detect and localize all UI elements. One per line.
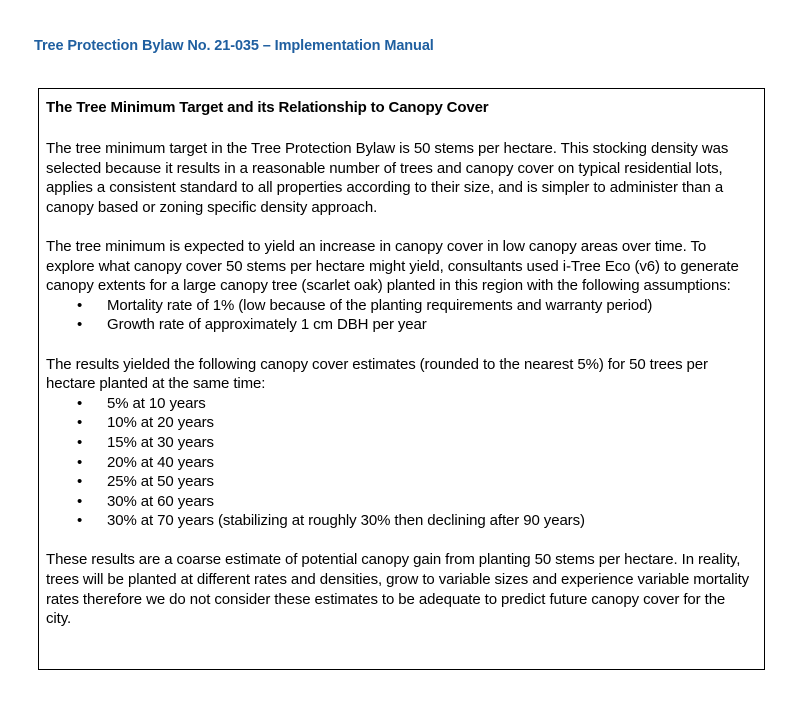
list-item: • 25% at 50 years — [46, 472, 754, 492]
list-item: • Mortality rate of 1% (low because of t… — [46, 296, 754, 316]
document-running-header: Tree Protection Bylaw No. 21-035 – Imple… — [34, 38, 434, 54]
paragraph-itree-eco-assumptions-intro: The tree minimum is expected to yield an… — [46, 237, 754, 296]
list-item: • 15% at 30 years — [46, 433, 754, 453]
bullet-icon: • — [77, 472, 82, 492]
bullet-icon: • — [77, 511, 82, 531]
canopy-estimates-list: • 5% at 10 years • 10% at 20 years • 15%… — [46, 394, 754, 531]
paragraph-coarse-estimate-caveat: These results are a coarse estimate of p… — [46, 550, 754, 628]
bullet-icon: • — [77, 492, 82, 512]
bullet-icon: • — [77, 453, 82, 473]
list-item: • 5% at 10 years — [46, 394, 754, 414]
document-page: Tree Protection Bylaw No. 21-035 – Imple… — [0, 0, 811, 712]
list-item-label: 15% at 30 years — [107, 434, 214, 451]
list-item-label: 5% at 10 years — [107, 395, 206, 412]
list-item: • 30% at 70 years (stabilizing at roughl… — [46, 511, 754, 531]
spacer — [46, 121, 754, 139]
list-item-label: 10% at 20 years — [107, 414, 214, 431]
list-item-label: Mortality rate of 1% (low because of the… — [107, 297, 652, 314]
bullet-icon: • — [77, 394, 82, 414]
paragraph-tree-minimum-target: The tree minimum target in the Tree Prot… — [46, 139, 754, 217]
paragraph-results-intro: The results yielded the following canopy… — [46, 355, 754, 394]
list-item: • 10% at 20 years — [46, 413, 754, 433]
list-item-label: Growth rate of approximately 1 cm DBH pe… — [107, 316, 427, 333]
list-item: • 30% at 60 years — [46, 492, 754, 512]
bullet-icon: • — [77, 413, 82, 433]
list-item-label: 30% at 60 years — [107, 493, 214, 510]
list-item-label: 25% at 50 years — [107, 473, 214, 490]
spacer — [46, 335, 754, 355]
spacer — [46, 217, 754, 237]
content-box-title: The Tree Minimum Target and its Relation… — [46, 98, 754, 117]
bullet-icon: • — [77, 315, 82, 335]
assumptions-list: • Mortality rate of 1% (low because of t… — [46, 296, 754, 335]
list-item-label: 30% at 70 years (stabilizing at roughly … — [107, 512, 585, 529]
list-item: • 20% at 40 years — [46, 453, 754, 473]
bullet-icon: • — [77, 296, 82, 316]
content-box: The Tree Minimum Target and its Relation… — [38, 88, 765, 670]
bullet-icon: • — [77, 433, 82, 453]
spacer — [46, 531, 754, 551]
list-item: • Growth rate of approximately 1 cm DBH … — [46, 315, 754, 335]
list-item-label: 20% at 40 years — [107, 454, 214, 471]
